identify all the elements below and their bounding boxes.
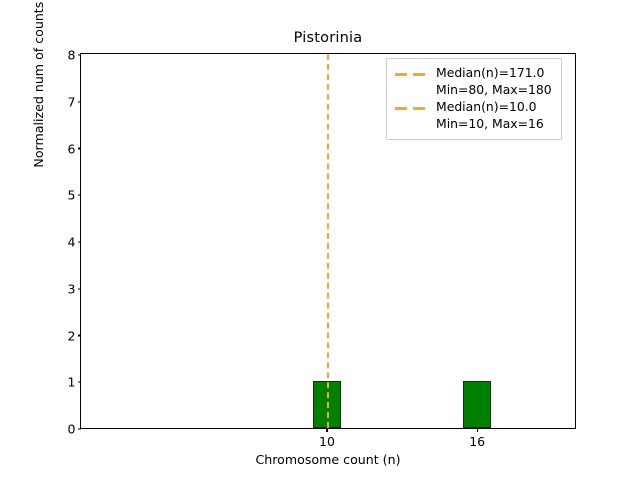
x-tick-10: 10 (319, 428, 335, 449)
page-title: Pistorinia (80, 30, 576, 46)
legend-item-0: Median(n)=171.0Min=80, Max=180 (394, 65, 552, 98)
chart-figure: Pistorinia Normalized num of counts (Tot… (0, 0, 640, 480)
y-tick-label: 3 (68, 281, 76, 296)
y-tick-label: 2 (68, 328, 76, 343)
dashed-line-icon (394, 100, 428, 116)
y-tick-3: 3 (68, 278, 81, 297)
y-tick-label: 0 (68, 422, 76, 437)
y-tick-label: 6 (68, 141, 76, 156)
x-tick-16: 16 (469, 428, 485, 449)
x-tick-mark (477, 428, 478, 432)
y-tick-5: 5 (68, 185, 81, 204)
y-tick-0: 0 (68, 419, 81, 438)
y-tick-label: 7 (68, 94, 76, 109)
x-tick-label: 10 (319, 434, 335, 449)
legend-label-0: Median(n)=171.0Min=80, Max=180 (436, 65, 552, 98)
dashed-line-icon (394, 66, 428, 82)
legend-label-1-line2: Min=10, Max=16 (436, 116, 544, 131)
bar-16 (463, 381, 491, 428)
y-tick-mark (78, 428, 82, 429)
y-tick-label: 8 (68, 48, 76, 63)
y-tick-4: 4 (68, 232, 81, 251)
legend-label-1-line1: Median(n)=10.0 (436, 99, 537, 114)
y-tick-6: 6 (68, 138, 81, 157)
legend-label-1: Median(n)=10.0Min=10, Max=16 (436, 99, 544, 132)
y-tick-label: 4 (68, 235, 76, 250)
x-axis-label: Chromosome count (n) (80, 452, 576, 467)
legend-item-1: Median(n)=10.0Min=10, Max=16 (394, 99, 552, 132)
x-tick-label: 16 (469, 434, 485, 449)
x-tick-mark (326, 428, 327, 432)
median-vline-10 (327, 54, 329, 428)
y-tick-label: 5 (68, 188, 76, 203)
legend-label-0-line2: Min=80, Max=180 (436, 82, 552, 97)
legend-label-0-line1: Median(n)=171.0 (436, 65, 544, 80)
y-tick-label: 1 (68, 375, 76, 390)
y-tick-2: 2 (68, 325, 81, 344)
y-tick-1: 1 (68, 372, 81, 391)
y-tick-7: 7 (68, 91, 81, 110)
legend: Median(n)=171.0Min=80, Max=180 Median(n)… (386, 58, 562, 140)
y-tick-8: 8 (68, 45, 81, 64)
y-axis-label: Normalized num of counts (Total 2) (31, 0, 46, 241)
